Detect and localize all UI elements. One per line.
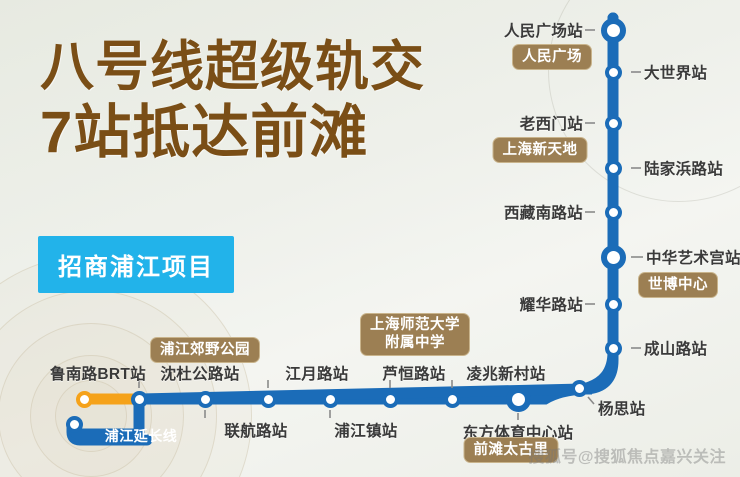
poi-badge-浦江郊野公园: 浦江郊野公园 [150, 337, 260, 363]
station-label-凌兆新村站: 凌兆新村站 [466, 362, 545, 384]
station-dot-人民广场站[interactable] [601, 18, 626, 43]
station-dot-东方体育中心站[interactable] [506, 387, 531, 412]
station-label-西藏南路站: 西藏南路站 [504, 201, 583, 223]
station-dot-江月路站[interactable] [260, 391, 277, 408]
branch-line-label: 浦江延长线 [105, 426, 178, 446]
station-dot-extension-terminus[interactable] [66, 416, 83, 433]
station-dot-凌兆新村站[interactable] [444, 391, 461, 408]
station-dot-中华艺术宫站[interactable] [601, 245, 626, 270]
station-label-人民广场站: 人民广场站 [504, 19, 583, 41]
station-dot-芦恒路站[interactable] [382, 391, 399, 408]
station-dot-大世界站[interactable] [605, 64, 622, 81]
station-dot-成山路站[interactable] [605, 340, 622, 357]
station-dot-西藏南路站[interactable] [605, 204, 622, 221]
poi-badge-人民广场: 人民广场 [512, 44, 592, 70]
station-label-成山路站: 成山路站 [644, 337, 707, 359]
station-label-沈杜公路站: 沈杜公路站 [160, 362, 239, 384]
station-label-鲁南路BRT站: 鲁南路BRT站 [50, 362, 146, 384]
station-label-联航路站: 联航路站 [224, 419, 287, 441]
poi-badge-世博中心: 世博中心 [638, 272, 718, 298]
station-label-陆家浜路站: 陆家浜路站 [644, 157, 723, 179]
metro-line-poster: 八号线超级轨交 7站抵达前滩 招商浦江项目 [0, 0, 740, 477]
station-dot-杨思站[interactable] [571, 380, 588, 397]
station-label-芦恒路站: 芦恒路站 [382, 362, 445, 384]
station-label-中华艺术宫站: 中华艺术宫站 [646, 246, 740, 268]
station-label-江月路站: 江月路站 [285, 362, 348, 384]
station-label-浦江镇站: 浦江镇站 [334, 419, 397, 441]
watermark: 搜狐号@搜狐焦点嘉兴关注 [528, 443, 726, 467]
station-dot-沈杜公路站[interactable] [131, 391, 148, 408]
station-dot-陆家浜路站[interactable] [605, 160, 622, 177]
station-dot-老西门站[interactable] [605, 115, 622, 132]
station-label-老西门站: 老西门站 [520, 112, 583, 134]
station-dot-鲁南路BRT站[interactable] [76, 391, 93, 408]
station-dot-联航路站[interactable] [197, 391, 214, 408]
station-label-大世界站: 大世界站 [644, 61, 707, 83]
station-label-杨思站: 杨思站 [598, 397, 645, 419]
station-dot-浦江镇站[interactable] [322, 391, 339, 408]
station-dot-耀华路站[interactable] [605, 296, 622, 313]
poi-badge-上海新天地: 上海新天地 [493, 137, 588, 163]
poi-badge-上海师范大学附属中学: 上海师范大学附属中学 [360, 313, 470, 356]
station-label-耀华路站: 耀华路站 [520, 293, 583, 315]
